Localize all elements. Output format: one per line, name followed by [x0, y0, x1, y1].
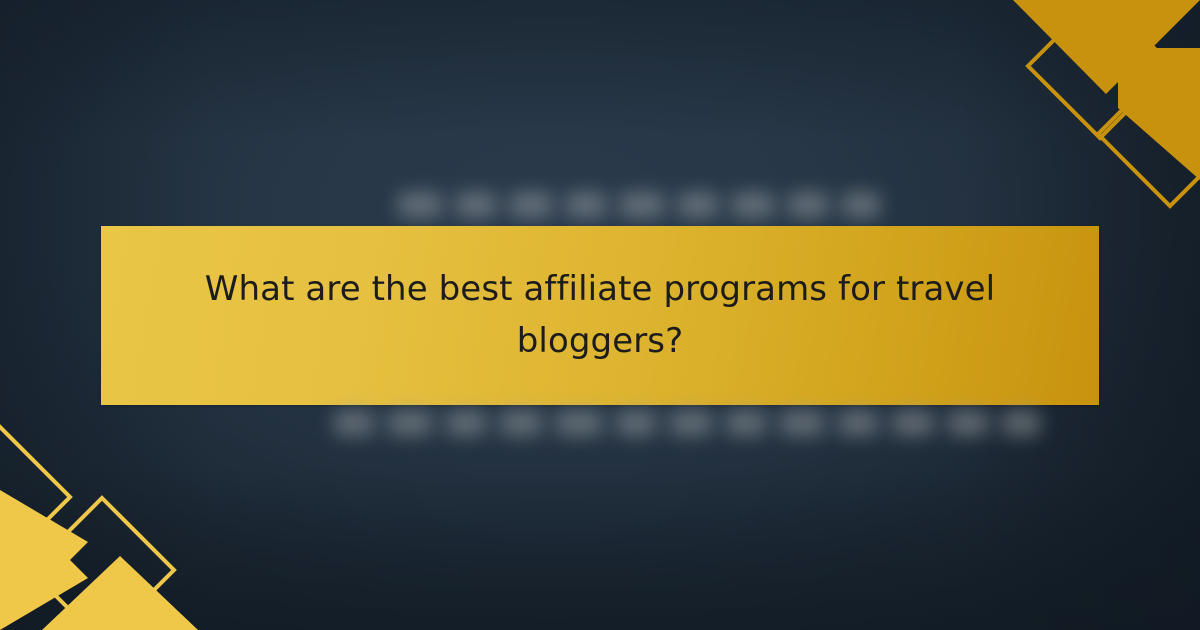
social-share-card: What are the best affiliate programs for…: [0, 0, 1200, 630]
blurred-text-block: [842, 192, 880, 218]
blurred-text-block: [398, 192, 442, 218]
blurred-text-block: [556, 410, 602, 436]
blurred-text-block: [566, 192, 606, 218]
blurred-text-block: [788, 192, 828, 218]
blurred-text-block: [500, 410, 542, 436]
blurred-text-row-bottom: [334, 410, 1040, 436]
blurred-text-block: [456, 192, 496, 218]
blurred-text-block: [1002, 410, 1040, 436]
blurred-text-row-top: [398, 192, 880, 218]
blurred-text-block: [780, 410, 824, 436]
headline-banner: What are the best affiliate programs for…: [101, 226, 1099, 405]
blurred-text-block: [838, 410, 878, 436]
blurred-text-block: [892, 410, 934, 436]
blurred-text-block: [388, 410, 432, 436]
headline-text: What are the best affiliate programs for…: [101, 264, 1099, 367]
blurred-text-block: [948, 410, 988, 436]
blurred-text-block: [732, 192, 774, 218]
blurred-text-block: [670, 410, 712, 436]
blurred-text-block: [620, 192, 664, 218]
blurred-text-block: [334, 410, 374, 436]
blurred-text-block: [446, 410, 486, 436]
blurred-text-block: [678, 192, 718, 218]
blurred-text-block: [616, 410, 656, 436]
blurred-text-block: [726, 410, 766, 436]
blurred-text-block: [510, 192, 552, 218]
